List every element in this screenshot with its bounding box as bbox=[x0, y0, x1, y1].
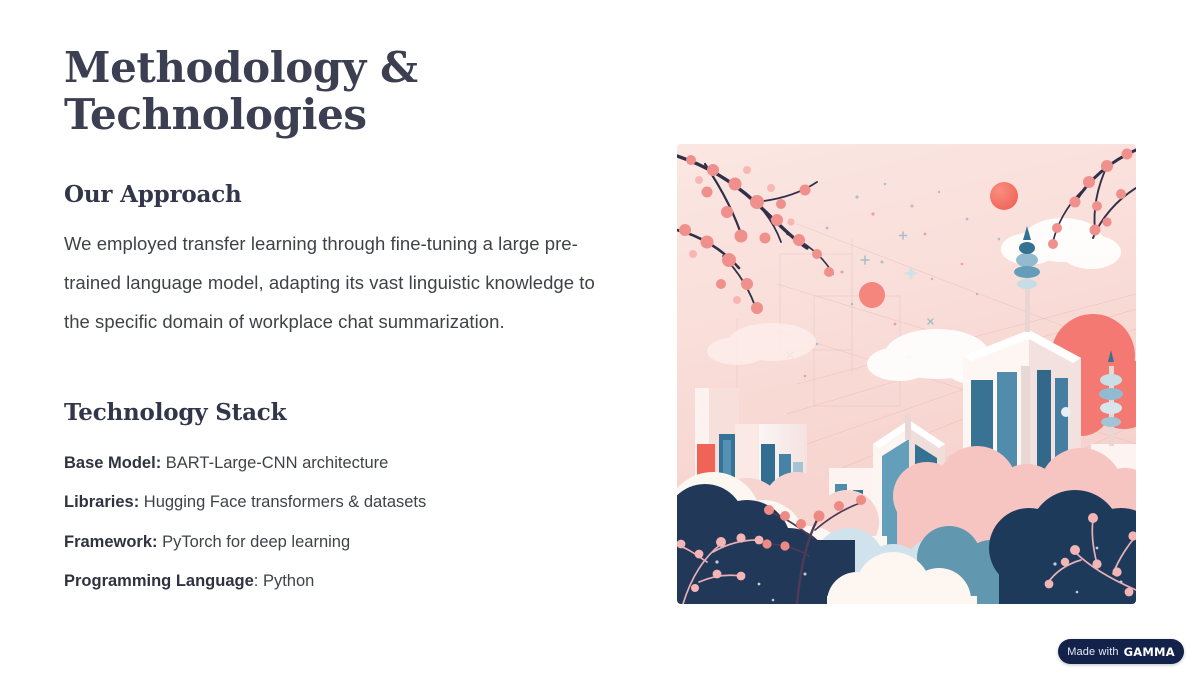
stack-item-value: : Python bbox=[254, 572, 315, 590]
slide-root: Methodology & Technologies Our Approach … bbox=[0, 0, 1200, 675]
stack-item-value: Hugging Face transformers & datasets bbox=[139, 493, 426, 511]
made-with-gamma-badge[interactable]: Made with GAMMA bbox=[1058, 639, 1184, 664]
gamma-logo: GAMMA bbox=[1124, 645, 1175, 659]
stack-item-value: PyTorch for deep learning bbox=[158, 533, 351, 551]
approach-body-text: We employed transfer learning through fi… bbox=[64, 224, 604, 341]
stack-item-label: Libraries: bbox=[64, 493, 139, 511]
stack-item-value: BART-Large-CNN architecture bbox=[161, 454, 388, 472]
technology-stack-list: Base Model: BART-Large-CNN architecture … bbox=[64, 444, 644, 602]
approach-heading: Our Approach bbox=[64, 181, 644, 208]
page-title: Methodology & Technologies bbox=[64, 44, 644, 138]
list-item: Base Model: BART-Large-CNN architecture bbox=[64, 444, 644, 483]
cityscape-illustration bbox=[677, 144, 1136, 604]
illustration-svg bbox=[677, 144, 1136, 604]
stack-item-label: Base Model: bbox=[64, 454, 161, 472]
list-item: Programming Language: Python bbox=[64, 562, 644, 601]
approach-section: Our Approach We employed transfer learni… bbox=[64, 181, 644, 341]
list-item: Libraries: Hugging Face transformers & d… bbox=[64, 483, 644, 522]
badge-made-with-label: Made with bbox=[1067, 646, 1118, 658]
stack-item-label: Framework: bbox=[64, 533, 158, 551]
technology-stack-heading: Technology Stack bbox=[64, 399, 644, 426]
stack-item-label: Programming Language bbox=[64, 572, 254, 590]
list-item: Framework: PyTorch for deep learning bbox=[64, 523, 644, 562]
technology-stack-section: Technology Stack Base Model: BART-Large-… bbox=[64, 399, 644, 602]
content-column: Methodology & Technologies Our Approach … bbox=[64, 44, 644, 602]
